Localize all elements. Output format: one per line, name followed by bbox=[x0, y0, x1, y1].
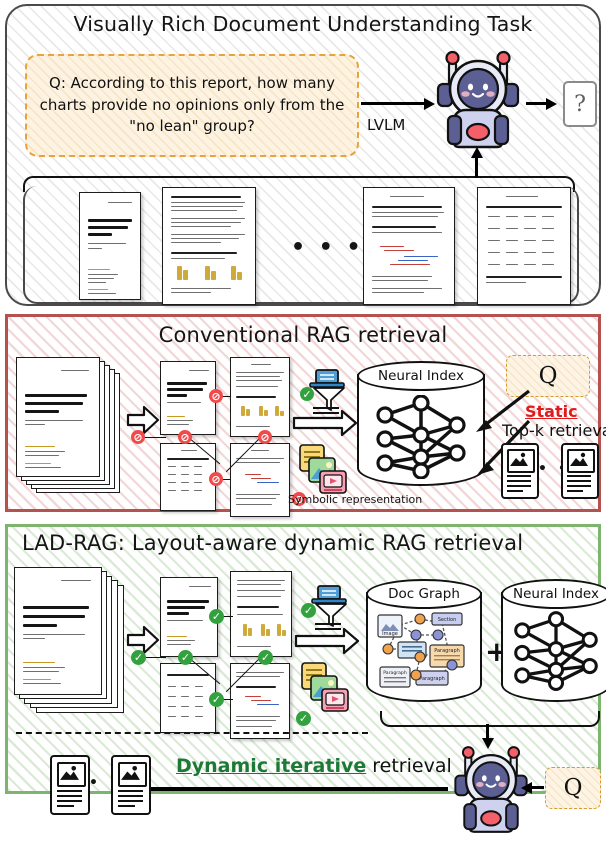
conventional-top-page[interactable] bbox=[16, 357, 100, 477]
arrow-docs-to-model-head bbox=[471, 147, 483, 158]
panel-conventional-title: Conventional RAG retrieval bbox=[8, 323, 598, 347]
doc-thumbnail-4[interactable] bbox=[477, 187, 571, 305]
panel-ladrag-title: LAD-RAG: Layout-aware dynamic RAG retrie… bbox=[22, 531, 523, 555]
doc-thumbnail-1[interactable] bbox=[79, 192, 141, 300]
doc-thumbnail-3[interactable] bbox=[363, 187, 455, 305]
blocked-marker: ⊘ bbox=[178, 430, 192, 444]
retrieval-mode-label: Static bbox=[525, 402, 578, 421]
allowed-marker: ✓ bbox=[178, 650, 193, 665]
svg-text:Image: Image bbox=[382, 631, 398, 637]
neural-index-cylinder: Neural Index bbox=[357, 361, 485, 495]
question-text: Q: According to this report, how many ch… bbox=[27, 73, 357, 138]
ladrag-result-card-2[interactable] bbox=[111, 755, 151, 815]
conventional-parsed-page-4[interactable] bbox=[230, 443, 290, 517]
dynamic-retrieval-emphasis: Dynamic iterative bbox=[176, 755, 366, 777]
neural-index-label: Neural Index bbox=[513, 586, 599, 602]
symbolic-representation-icons bbox=[300, 661, 356, 721]
arrow-query-to-agent bbox=[530, 786, 544, 789]
svg-text:Paragraph: Paragraph bbox=[419, 676, 445, 682]
section-divider bbox=[16, 732, 368, 734]
arrow-query-to-agent-head bbox=[521, 782, 532, 794]
conventional-parsed-page-2[interactable] bbox=[230, 357, 290, 437]
allowed-marker: ✓ bbox=[131, 650, 146, 665]
blocked-marker: ⊘ bbox=[258, 430, 272, 444]
neural-index-label: Neural Index bbox=[378, 368, 464, 384]
answer-card: ? bbox=[563, 81, 597, 127]
ladrag-page-stack bbox=[14, 567, 126, 717]
conventional-parsed-page-1[interactable] bbox=[160, 361, 216, 435]
lvlm-robot-avatar bbox=[432, 44, 524, 154]
conventional-result-card-2[interactable] bbox=[561, 443, 599, 499]
neural-index-cylinder: Neural Index bbox=[501, 579, 606, 711]
documents-ellipsis: • • • bbox=[291, 235, 364, 260]
ladrag-top-page[interactable] bbox=[14, 567, 102, 695]
dynamic-retrieval-label: Dynamic iterative retrieval bbox=[176, 755, 452, 777]
svg-text:Paragraph: Paragraph bbox=[383, 670, 407, 676]
allowed-marker: ✓ bbox=[301, 603, 316, 618]
ladrag-result-card-1[interactable] bbox=[50, 755, 90, 815]
blocked-marker: ⊘ bbox=[209, 472, 223, 486]
conventional-index-arrow bbox=[292, 409, 360, 441]
doc-graph-cylinder: Doc Graph Image Section bbox=[366, 579, 482, 711]
dynamic-retrieval-suffix: retrieval bbox=[366, 755, 452, 777]
panel-conventional-rag: Conventional RAG retrieval bbox=[5, 314, 601, 512]
ladrag-parsed-page-2[interactable] bbox=[230, 571, 292, 657]
svg-text:Paragraph: Paragraph bbox=[434, 648, 460, 654]
panel-vrdu-task: Visually Rich Document Understanding Tas… bbox=[5, 4, 601, 306]
panel-vrdu-title: Visually Rich Document Understanding Tas… bbox=[7, 12, 599, 36]
conventional-page-stack bbox=[16, 357, 126, 497]
allowed-marker: ✓ bbox=[258, 650, 273, 665]
stores-bracket bbox=[380, 711, 600, 727]
ladrag-index-arrow bbox=[294, 627, 362, 659]
ladrag-parsed-page-4[interactable] bbox=[230, 663, 290, 739]
panel-lad-rag: LAD-RAG: Layout-aware dynamic RAG retrie… bbox=[5, 524, 601, 794]
arrow-question-to-model bbox=[361, 102, 426, 105]
svg-text:Section: Section bbox=[438, 617, 457, 623]
allowed-marker: ✓ bbox=[300, 387, 314, 401]
allowed-marker: ✓ bbox=[209, 609, 224, 624]
arrow-model-to-answer bbox=[526, 102, 548, 105]
dynamic-retrieval-arrow bbox=[143, 787, 448, 791]
figure-canvas: Visually Rich Document Understanding Tas… bbox=[0, 0, 606, 798]
doc-thumbnail-2[interactable] bbox=[162, 187, 256, 305]
arrow-docs-to-model bbox=[475, 156, 478, 178]
ladrag-query-tag[interactable]: Q bbox=[545, 767, 601, 809]
blocked-marker: ⊘ bbox=[209, 389, 223, 403]
blocked-marker: ⊘ bbox=[131, 430, 145, 444]
allowed-marker: ✓ bbox=[209, 692, 224, 707]
model-label: LVLM bbox=[367, 116, 405, 134]
agent-robot-avatar bbox=[450, 740, 532, 838]
retrieval-kind-label: Top-k retrieval bbox=[502, 421, 606, 440]
doc-graph-label: Doc Graph bbox=[388, 586, 460, 602]
question-box: Q: According to this report, how many ch… bbox=[25, 54, 359, 157]
arrow-model-to-answer-head bbox=[546, 98, 557, 110]
conventional-result-card-1[interactable] bbox=[501, 443, 539, 499]
